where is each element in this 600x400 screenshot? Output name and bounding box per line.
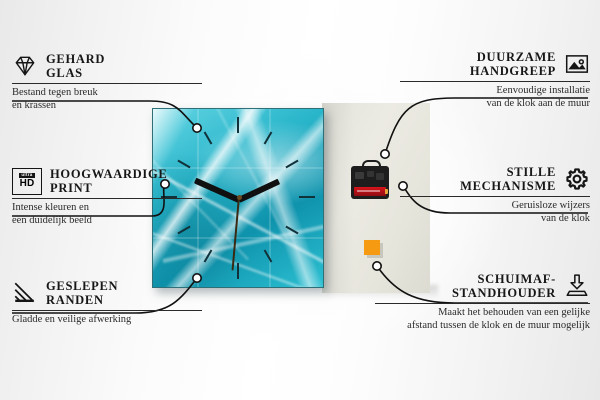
callout-description: Gladde en veilige afwerking [12, 314, 202, 327]
callout-desc-line2: van de klok [541, 213, 590, 224]
callout-desc-line2: van de klok aan de muur [486, 98, 590, 109]
picture-frame-icon [564, 51, 590, 77]
callout-title-line2: RANDEN [46, 293, 104, 307]
callout-title-line1: GEHARD [46, 52, 105, 66]
callout-title-line1: DUURZAME [477, 50, 556, 64]
callout-title: GESLEPEN RANDEN [46, 279, 118, 307]
callout-divider [375, 303, 590, 304]
leader-endpoint-gehard-glas [193, 124, 201, 132]
callout-header: STILLE MECHANISME [400, 165, 590, 193]
callout-stille-mechanisme[interactable]: STILLE MECHANISME Geruisloze wijzers van… [400, 165, 590, 225]
ultra-hd-icon: ultra HD [12, 168, 42, 195]
ultra-hd-badge-main: HD [20, 179, 35, 189]
callout-desc-line1: Eenvoudige installatie [496, 85, 590, 96]
gear-icon [564, 166, 590, 192]
callout-title-line2: MECHANISME [460, 179, 556, 193]
callout-title-line2: PRINT [50, 181, 92, 195]
callout-divider [12, 310, 202, 311]
callout-title: HOOGWAARDIGE PRINT [50, 167, 167, 195]
callout-schuimafstandhouder[interactable]: SCHUIMAF- STANDHOUDER Maakt het behouden… [375, 272, 590, 332]
callout-gehard-glas[interactable]: GEHARD GLAS Bestand tegen breuk en krass… [12, 52, 202, 112]
callout-title-line1: STILLE [507, 165, 556, 179]
callout-desc-line2: afstand tussen de klok en de muur mogeli… [407, 320, 590, 331]
callout-desc-line1: Bestand tegen breuk [12, 87, 98, 98]
callout-hoogwaardige-print[interactable]: ultra HD HOOGWAARDIGE PRINT Intense kleu… [12, 167, 202, 227]
callout-title: STILLE MECHANISME [460, 165, 556, 193]
callout-title-line1: HOOGWAARDIGE [50, 167, 167, 181]
callout-title-line1: SCHUIMAF- [477, 272, 556, 286]
callout-desc-line2: een duidelijk beeld [12, 215, 92, 226]
leader-endpoint-standhouder [373, 262, 381, 270]
callout-divider [400, 81, 590, 82]
callout-divider [12, 83, 202, 84]
callout-title-line1: GESLEPEN [46, 279, 118, 293]
infographic-canvas: GEHARD GLAS Bestand tegen breuk en krass… [0, 0, 600, 400]
callout-desc-line1: Maakt het behouden van een gelijke [438, 307, 590, 318]
callout-desc-line1: Intense kleuren en [12, 202, 89, 213]
callout-desc-line1: Geruisloze wijzers [512, 200, 590, 211]
callout-description: Maakt het behouden van een gelijke afsta… [375, 307, 590, 332]
callout-header: ultra HD HOOGWAARDIGE PRINT [12, 167, 202, 195]
callout-title: SCHUIMAF- STANDHOUDER [452, 272, 556, 300]
callout-description: Intense kleuren en een duidelijk beeld [12, 202, 202, 227]
callout-header: GESLEPEN RANDEN [12, 279, 202, 307]
callout-divider [12, 198, 202, 199]
callout-description: Eenvoudige installatie van de klok aan d… [400, 85, 590, 110]
beveled-edge-icon [12, 280, 38, 306]
callout-description: Geruisloze wijzers van de klok [400, 200, 590, 225]
spacer-arrow-icon [564, 273, 590, 299]
callout-divider [400, 196, 590, 197]
callout-desc-line1: Gladde en veilige afwerking [12, 314, 131, 325]
diamond-icon [12, 53, 38, 79]
callout-desc-line2: en krassen [12, 100, 56, 111]
callout-header: SCHUIMAF- STANDHOUDER [375, 272, 590, 300]
callout-title: DUURZAME HANDGREEP [470, 50, 556, 78]
callout-header: DUURZAME HANDGREEP [400, 50, 590, 78]
callout-description: Bestand tegen breuk en krassen [12, 87, 202, 112]
callout-title-line2: GLAS [46, 66, 83, 80]
callout-title: GEHARD GLAS [46, 52, 105, 80]
callout-geslepen-randen[interactable]: GESLEPEN RANDEN Gladde en veilige afwerk… [12, 279, 202, 327]
callout-title-line2: STANDHOUDER [452, 286, 556, 300]
callout-duurzame-handgreep[interactable]: DUURZAME HANDGREEP Eenvoudige installati… [400, 50, 590, 110]
callout-header: GEHARD GLAS [12, 52, 202, 80]
callout-title-line2: HANDGREEP [470, 64, 556, 78]
leader-endpoint-handgreep [381, 150, 389, 158]
